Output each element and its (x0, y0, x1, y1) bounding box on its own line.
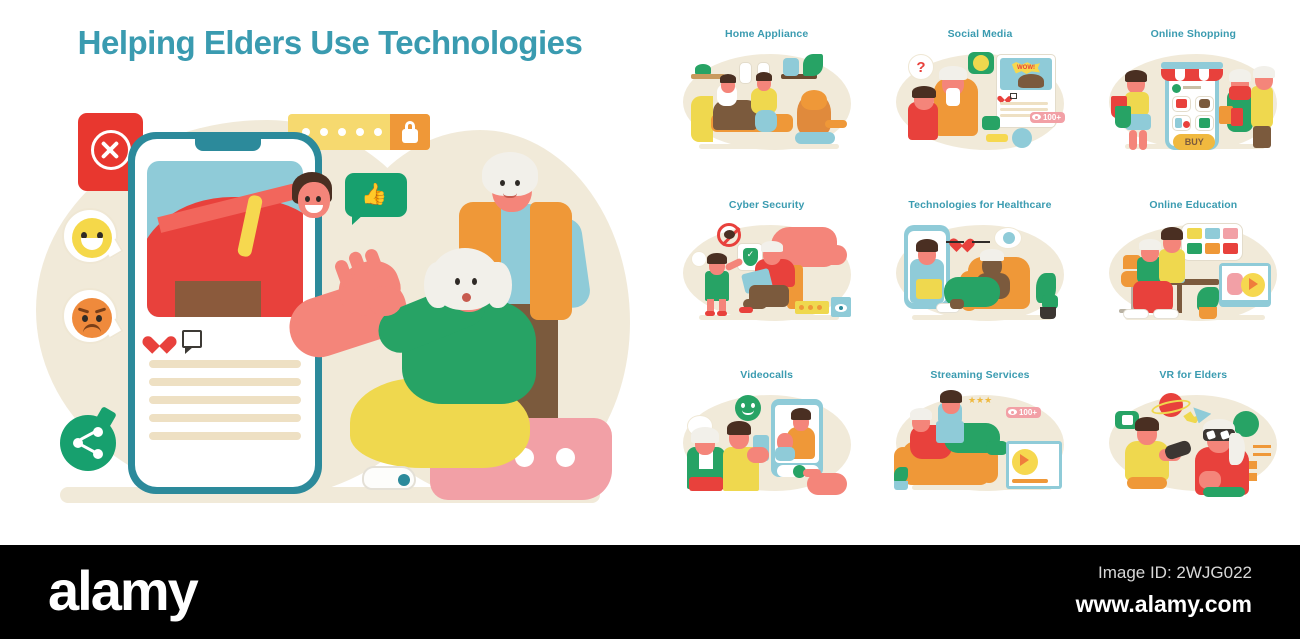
elder-man-vest-right (530, 202, 572, 320)
cell-title: Online Education (1087, 187, 1300, 211)
password-dots (302, 128, 382, 136)
grid-cell-home-appliance[interactable]: Home Appliance (660, 16, 873, 187)
cell-title: Home Appliance (660, 16, 873, 40)
scene-online-shopping: BUY (1103, 44, 1283, 156)
scene-vr (1103, 385, 1283, 497)
angry-emoji-icon (62, 288, 118, 344)
thumbs-up-glyph: 👍 (361, 184, 387, 205)
elder-man-hair (482, 152, 538, 196)
elder-woman-eye (472, 278, 477, 285)
elder-woman-mouth (462, 293, 471, 302)
post-photo (147, 161, 303, 317)
share-icon (60, 415, 116, 471)
emoji-face (72, 298, 112, 338)
elder-woman-shoe (362, 466, 416, 490)
cell-title: Videocalls (660, 357, 873, 381)
screenshot-canvas: Helping Elders Use Technologies (0, 0, 1300, 639)
hero-illustration: Helping Elders Use Technologies (0, 0, 660, 545)
heart-icon[interactable] (149, 329, 170, 348)
page-title: Helping Elders Use Technologies (0, 24, 660, 62)
image-id-label: Image ID: 2WJG022 (1098, 563, 1252, 583)
scene-streaming: ★★★ 100+ (890, 385, 1070, 497)
scene-home-appliance (677, 44, 857, 156)
thumbs-up-icon: 👍 (345, 173, 407, 217)
grid-cell-streaming[interactable]: Streaming Services ★★★ 100+ (873, 357, 1086, 528)
cell-title: Technologies for Healthcare (873, 187, 1086, 211)
progress-bar[interactable] (1012, 479, 1048, 483)
alamy-url: www.alamy.com (1076, 591, 1252, 618)
scene-online-education (1103, 215, 1283, 327)
elder-woman-eye (455, 278, 460, 285)
elder-woman-hand (368, 286, 402, 316)
elder-man-eye (515, 180, 520, 186)
alamy-watermark-bar: alamy Image ID: 2WJG022 www.alamy.com (0, 545, 1300, 639)
grid-cell-social-media[interactable]: Social Media ? WOW! (873, 16, 1086, 187)
cell-title: Social Media (873, 16, 1086, 40)
cell-title: VR for Elders (1087, 357, 1300, 381)
post-text-placeholder (149, 360, 301, 450)
grid-cell-online-shopping[interactable]: Online Shopping BUY (1087, 16, 1300, 187)
alamy-logo: alamy (48, 563, 197, 619)
comment-icon[interactable] (182, 330, 202, 348)
cell-title: Cyber Security (660, 187, 873, 211)
rating-stars: ★★★ (968, 395, 992, 406)
elder-woman-hair-side (424, 262, 450, 308)
grid-cell-online-education[interactable]: Online Education (1087, 187, 1300, 358)
grid-cell-healthcare[interactable]: Technologies for Healthcare (873, 187, 1086, 358)
avatar (1012, 128, 1032, 148)
lock-icon (390, 114, 430, 150)
views-badge: 100+ (1030, 112, 1065, 123)
heart-icon[interactable] (1000, 93, 1009, 101)
scene-videocalls (677, 385, 857, 497)
elder-woman-hair-side (486, 262, 512, 308)
question-bubble: ? (908, 54, 934, 80)
laughing-emoji-icon (62, 208, 118, 264)
emoji-face (72, 218, 112, 258)
phone-notch (195, 139, 261, 151)
scene-cyber-security (677, 215, 857, 327)
grid-cell-vr[interactable]: VR for Elders (1087, 357, 1300, 528)
buy-button[interactable]: BUY (1173, 134, 1215, 150)
scene-grid: Home Appliance (660, 16, 1300, 528)
views-badge: 100+ (1006, 407, 1041, 418)
post-actions[interactable] (149, 329, 202, 348)
scene-social-media: ? WOW! 100+ (890, 44, 1070, 156)
helper-eye (305, 196, 310, 202)
heart-icon (954, 233, 970, 247)
comment-icon[interactable] (1010, 93, 1017, 99)
grid-cell-videocalls[interactable]: Videocalls (660, 357, 873, 528)
cell-title: Online Shopping (1087, 16, 1300, 40)
grid-cell-cyber-security[interactable]: Cyber Security (660, 187, 873, 358)
scene-healthcare (890, 215, 1070, 327)
play-button[interactable] (1241, 273, 1265, 297)
smiley-icon (735, 395, 761, 421)
phone-screen (135, 139, 315, 487)
elder-man-eye (500, 180, 505, 186)
helper-eye (316, 196, 321, 202)
cell-title: Streaming Services (873, 357, 1086, 381)
